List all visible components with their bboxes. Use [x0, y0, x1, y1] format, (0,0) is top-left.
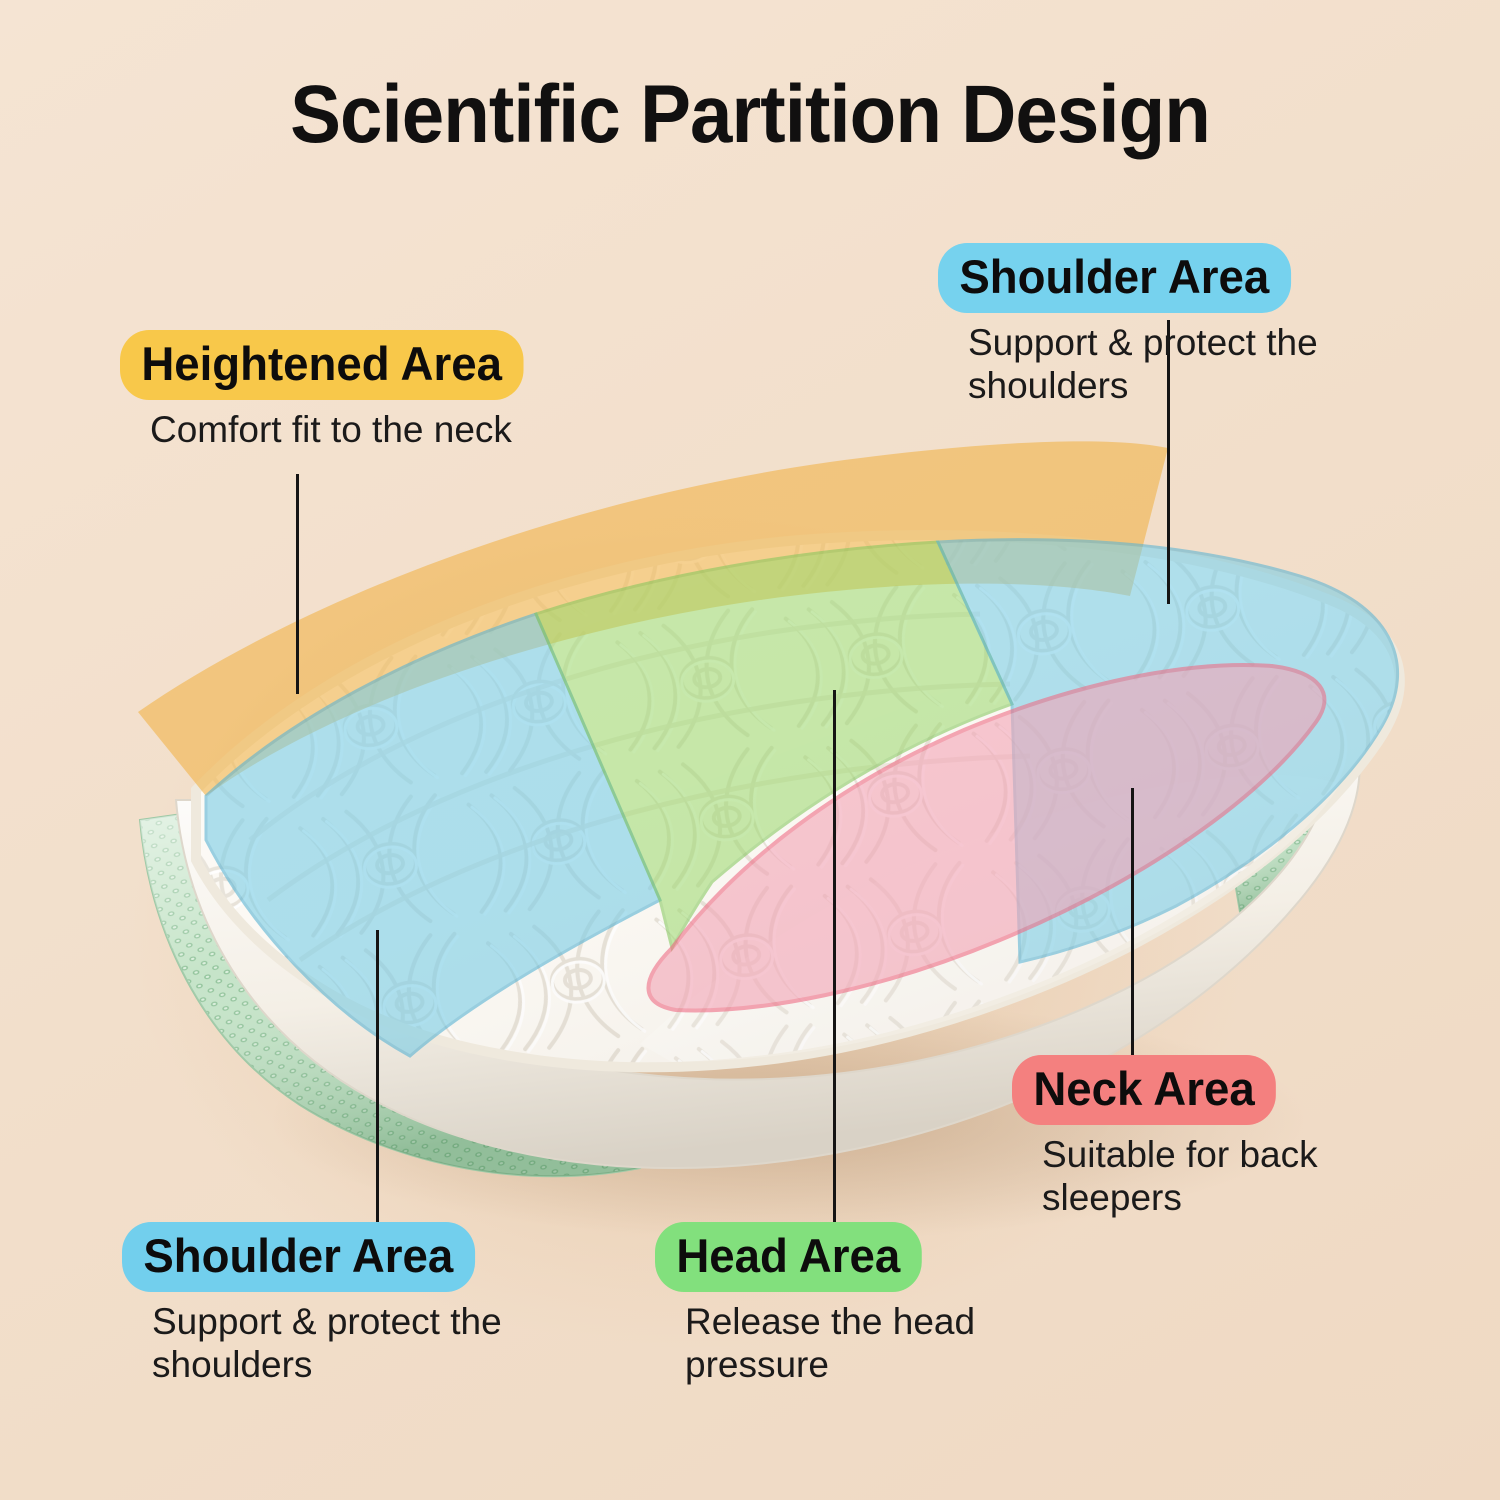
- label-pill-shoulder-area-top: Shoulder Area: [938, 243, 1291, 313]
- leader-line-heightened: [296, 474, 299, 694]
- label-pill-shoulder-area-bottom: Shoulder Area: [122, 1222, 475, 1292]
- callout-shoulder-area-top: Shoulder Area Support & protect the shou…: [938, 243, 1368, 408]
- leader-line-shoulder-bottom: [376, 930, 379, 1222]
- leader-line-neck: [1131, 788, 1134, 1056]
- description-shoulder-area-bottom: Support & protect the shoulders: [122, 1301, 552, 1387]
- label-pill-head-area: Head Area: [655, 1222, 922, 1292]
- leader-line-head: [833, 690, 836, 1222]
- label-pill-heightened-area: Heightened Area: [120, 330, 523, 400]
- label-pill-neck-area: Neck Area: [1012, 1055, 1276, 1125]
- infographic-canvas: Scientific Partition Design Heightened A…: [0, 0, 1500, 1500]
- description-neck-area: Suitable for back sleepers: [1012, 1134, 1442, 1220]
- page-title: Scientific Partition Design: [53, 74, 1448, 156]
- description-head-area: Release the head pressure: [655, 1301, 1085, 1387]
- callout-head-area: Head Area Release the head pressure: [655, 1222, 1085, 1387]
- callout-heightened-area: Heightened Area Comfort fit to the neck: [120, 330, 536, 452]
- description-shoulder-area-top: Support & protect the shoulders: [938, 322, 1368, 408]
- description-heightened-area: Comfort fit to the neck: [120, 409, 536, 452]
- callout-neck-area: Neck Area Suitable for back sleepers: [1012, 1055, 1442, 1220]
- callout-shoulder-area-bottom: Shoulder Area Support & protect the shou…: [122, 1222, 552, 1387]
